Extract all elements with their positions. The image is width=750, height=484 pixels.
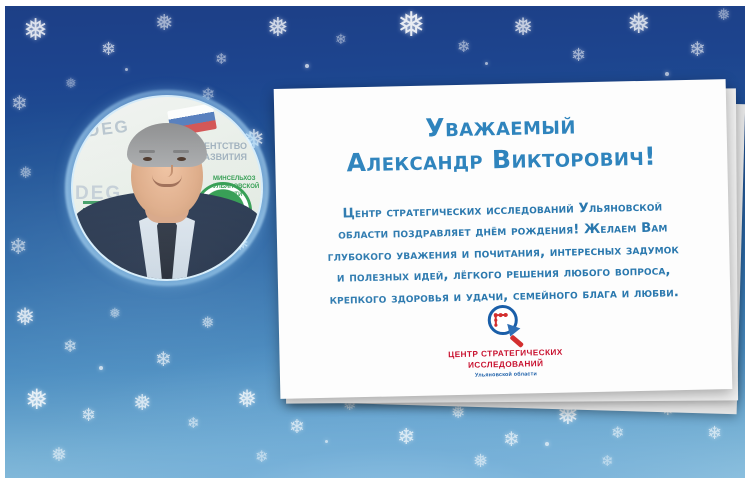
snowflake-icon: ❄ [601,454,614,469]
snowflake-icon: ❅ [717,8,730,24]
portrait-eye-left [143,157,152,161]
snowflake-icon: ❄ [689,40,706,60]
snowflake-icon: ❅ [155,12,173,34]
snowflake-icon: ❅ [51,446,67,465]
snowflake-icon: ❄ [611,426,624,442]
snow-dot [99,366,103,370]
snowflake-icon: ❄ [255,450,268,466]
snowflake-icon: ❄ [335,32,347,46]
snowflake-icon: ❅ [133,392,151,414]
snowflake-icon: ❅ [627,10,650,38]
snowflake-icon: ❅ [19,166,32,182]
greeting-card: Уважаемый Александр Викторович! Центр ст… [274,79,733,399]
snowflake-icon: ❅ [237,388,257,412]
snow-dot [125,68,128,71]
greeting-body: Центр стратегических исследований Ульяно… [298,196,708,312]
snowflake-icon: ❄ [11,94,28,114]
snowflake-icon: ❅ [397,8,426,42]
snowflake-icon: ❅ [201,316,214,332]
snow-dot [325,440,328,443]
portrait-avatar: DEG DEG АГЕНТСТВОРАЗВИТИЯ МИНСЕЛЬХОЗ УЛЬ… [65,90,269,286]
greeting-card-image: ❅ ❄ ❅ ❄ ❅ ❄ ❅ ❄ ❅ ❄ ❅ ❄ ❅ ❄ ❅ ❄ ❅ ❄ ❅ ❄ … [0,0,750,484]
snow-dot [665,72,669,76]
snowflake-icon: ❄ [457,40,470,56]
snowflake-icon: ❅ [23,16,48,46]
logo-subtitle: Ульяновской области [446,371,566,380]
portrait-photo: DEG DEG АГЕНТСТВОРАЗВИТИЯ МИНСЕЛЬХОЗ УЛЬ… [73,97,261,279]
snowflake-icon: ❄ [9,236,27,258]
portrait-eyebrow-right [173,150,189,153]
portrait-eyebrow-left [139,150,155,153]
greeting-salutation-line1: Уважаемый [296,108,705,146]
snowflake-icon: ❅ [15,306,35,330]
snowflake-icon: ❄ [289,418,305,437]
portrait-eye-right [177,157,186,161]
snowflake-icon: ❄ [101,40,116,58]
snowflake-icon: ❅ [513,16,533,40]
magnifying-glass-chart-icon [483,305,526,346]
snowflake-icon: ❅ [473,452,488,470]
greeting-card-content: Уважаемый Александр Викторович! Центр ст… [274,79,733,399]
snow-dot [305,64,309,68]
snowflake-icon: ❄ [397,426,415,448]
snowflake-icon: ❄ [63,338,77,355]
snowflake-icon: ❅ [25,386,48,414]
snow-dot [545,442,549,446]
snowflake-icon: ❄ [503,430,520,450]
snowflake-icon: ❄ [571,46,586,64]
snowflake-icon: ❄ [215,52,228,67]
backdrop-ministry-label: МИНСЕЛЬХОЗ УЛЬЯНОВСКОЙ ОБЛАСТИ [213,175,257,199]
snowflake-icon: ❅ [65,76,77,90]
winter-background: ❅ ❄ ❅ ❄ ❅ ❄ ❅ ❄ ❅ ❄ ❅ ❄ ❅ ❄ ❅ ❄ ❅ ❄ ❅ ❄ … [5,6,745,478]
snowflake-icon: ❄ [81,406,96,424]
snowflake-icon: ❅ [267,14,289,40]
organization-logo: Центр стратегических исследований Ульяно… [444,304,566,380]
snowflake-icon: ❄ [155,350,172,370]
snowflake-icon: ❄ [187,416,200,431]
snowflake-icon: ❄ [707,424,722,442]
snow-dot [485,62,488,65]
greeting-salutation-line2: Александр Викторович! [297,140,706,178]
snowflake-icon: ❅ [109,306,121,320]
